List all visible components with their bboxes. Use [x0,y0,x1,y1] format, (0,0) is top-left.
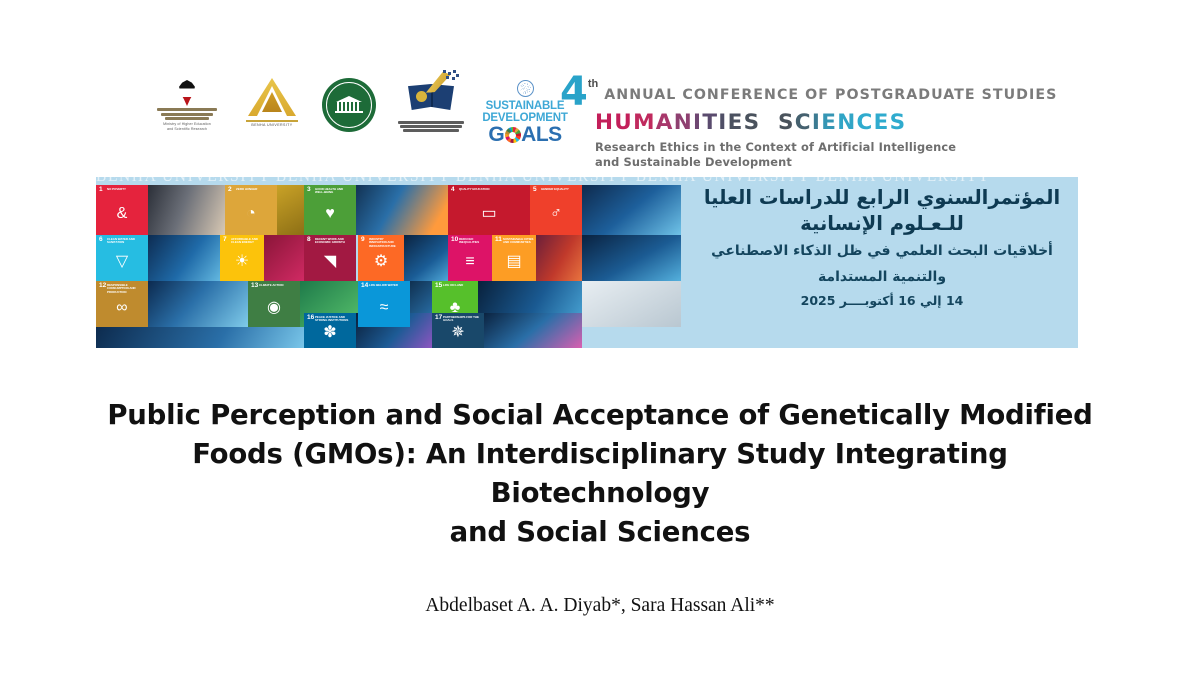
sdg-color-wheel-icon [505,127,521,143]
sdg-tile-glyph-icon: & [117,206,128,222]
sdg-tile-number: 7 [223,237,227,244]
sdg-tile-17: 17PARTNERSHIPS FOR THE GOALS✵ [432,313,484,348]
arabic-title-line1: المؤتمرالسنوي الرابع للدراسات العليا [702,185,1062,211]
humanities-letter: T [702,110,718,135]
humanities-letter: I [718,110,727,135]
benha-university-seal [318,78,380,132]
conference-subtitle: Research Ethics in the Context of Artifi… [595,140,995,170]
sdg-tile-glyph-icon: ▽ [116,254,128,270]
sdg-tile-title: NO POVERTY [107,188,144,192]
sdg-tile-title: SUSTAINABLE CITIES AND COMMUNITIES [503,238,535,245]
conference-subtitle-line2: and Sustainable Development [595,155,995,170]
sdg-tile-glyph-icon: ◥ [324,254,336,270]
sdg-tile-3: 3GOOD HEALTH AND WELL-BEING♥ [304,185,356,235]
sustainable-development-goals-logo: SUSTAINABLE DEVELOPMENT G ALS [482,78,568,146]
humanities-letter [760,110,778,135]
sdg-tile-title: DECENT WORK AND ECONOMIC GROWTH [315,238,352,245]
title-line-3: and Social Sciences [86,513,1114,552]
arabic-dates: 14 إلي 16 أكتوبــــر 2025 [702,293,1062,308]
sdg-tile-title: LIFE BELOW WATER [369,284,406,288]
sdg-tile-5: 5GENDER EQUALITY♂ [530,185,582,235]
faculty-arabic-text [397,121,465,132]
mosaic-photo-tile [404,235,448,281]
humanities-letter: N [674,110,693,135]
sdg-line-1: SUSTAINABLE [482,100,568,112]
mosaic-photo-tile [582,185,681,235]
page-title: Public Perception and Social Acceptance … [86,396,1114,552]
benha-university-logo: BENHA UNIVERSITY [238,78,306,127]
sdg-tile-title: LIFE ON LAND [443,284,476,288]
humanities-letter: E [874,110,890,135]
humanities-letter: S [890,110,907,135]
sdg-tile-glyph-icon: ▤ [506,254,521,270]
mosaic-photo-tile [277,185,304,235]
conference-annual-line: ANNUAL CONFERENCE OF POSTGRADUATE STUDIE… [604,87,1057,103]
sdg-goals-g: G [488,124,504,146]
mosaic-photo-tile [582,281,681,327]
humanities-letter: N [837,110,856,135]
humanities-letter: I [693,110,702,135]
sdg-tile-number: 3 [307,187,311,194]
banner-arabic-block: المؤتمرالسنوي الرابع للدراسات العليا للـ… [702,185,1062,308]
sdg-tile-number: 2 [228,187,232,194]
conference-title-block: 4 th ANNUAL CONFERENCE OF POSTGRADUATE S… [560,76,1030,169]
sdg-tile-title: ZERO HUNGER [236,188,273,192]
sdg-tile-title: QUALITY EDUCATION [459,188,518,192]
arabic-subtitle-line1: أخلاقيات البحث العلمي في ظل الذكاء الاصط… [702,242,1062,262]
sdg-tile-number: 5 [533,187,537,194]
sdg-tile-glyph-icon: ≈ [380,300,389,316]
mosaic-photo-tile [148,281,248,327]
sdg-tile-glyph-icon: ✽ [323,325,336,341]
sdg-tile-glyph-icon: ▭ [481,206,496,222]
authors-line: Abdelbaset A. A. Diyab*, Sara Hassan Ali… [0,595,1200,617]
sdg-tile-glyph-icon: ≡ [465,254,474,270]
sdg-tile-16: 16PEACE JUSTICE AND STRONG INSTITUTIONS✽ [304,313,356,348]
mosaic-photo-tile [148,235,220,281]
faculty-emblem-logo [392,78,470,133]
conference-banner: 1NO POVERTY&2ZERO HUNGER◔3GOOD HEALTH AN… [96,177,1078,348]
logo-row: Ministry of Higher Education and Scienti… [148,78,568,146]
conference-header: Ministry of Higher Education and Scienti… [0,70,1200,170]
sdg-tile-number: 11 [495,237,502,244]
sdg-goals-als: ALS [521,124,562,146]
sdg-tile-glyph-icon: ◉ [267,300,281,316]
humanities-letter: H [595,110,614,135]
benha-logo-label: BENHA UNIVERSITY [238,123,306,127]
mosaic-photo-tile [536,235,582,281]
sdg-tile-glyph-icon: ♂ [550,206,562,222]
sdg-tile-7: 7AFFORDABLE AND CLEAN ENERGY☀ [220,235,264,281]
sdg-tile-10: 10REDUCED INEQUALITIES≡ [448,235,492,281]
arabic-subtitle-line2: والتنمية المستدامة [702,268,1062,288]
title-line-2: Foods (GMOs): An Interdisciplinary Study… [86,435,1114,513]
digital-pixels-icon [443,70,459,84]
sdg-goals-word: G ALS [482,124,568,146]
sdg-tile-number: 4 [451,187,455,194]
mosaic-photo-tile [484,313,582,348]
sdg-tile-title: PEACE JUSTICE AND STRONG INSTITUTIONS [315,316,352,323]
ministry-arabic-text [155,108,219,120]
university-seal-icon [322,78,376,132]
sdg-tile-4: 4QUALITY EDUCATION▭ [448,185,530,235]
sdg-tile-glyph-icon: ◔ [246,206,256,222]
sdg-tile-9: 9INDUSTRY INNOVATION AND INFRASTRUCTURE⚙ [358,235,404,281]
sdg-tile-number: 9 [361,237,365,244]
united-nations-icon [517,80,534,97]
humanities-letter: M [633,110,656,135]
sdg-tile-number: 15 [435,283,442,290]
sdg-tile-12: 12RESPONSIBLE CONSUMPTION AND PRODUCTION… [96,281,148,327]
conference-ordinal-suffix: th [588,78,598,90]
sdg-tile-title: REDUCED INEQUALITIES [459,238,491,245]
ministry-of-higher-education-logo: Ministry of Higher Education and Scienti… [148,78,226,132]
sdg-tile-number: 1 [99,187,103,194]
sdg-tile-8: 8DECENT WORK AND ECONOMIC GROWTH◥ [304,235,356,281]
sdg-photo-mosaic: 1NO POVERTY&2ZERO HUNGER◔3GOOD HEALTH AN… [96,177,681,348]
humanities-letter: E [821,110,837,135]
sdg-tile-13: 13CLIMATE ACTION◉ [248,281,300,327]
sdg-tile-title: CLIMATE ACTION [259,284,296,288]
humanities-letter: S [778,110,795,135]
sdg-tile-number: 14 [361,283,368,290]
mosaic-photo-tile [356,185,448,235]
humanities-letter: C [795,110,812,135]
sdg-tile-title: INDUSTRY INNOVATION AND INFRASTRUCTURE [369,238,402,249]
sdg-tile-number: 8 [307,237,311,244]
humanities-letter: A [656,110,674,135]
sdg-tile-glyph-icon: ⚙ [374,254,388,270]
sdg-tile-glyph-icon: ♥ [325,206,335,222]
sdg-tile-11: 11SUSTAINABLE CITIES AND COMMUNITIES▤ [492,235,536,281]
mosaic-photo-tile [148,185,225,235]
humanities-letter: C [856,110,873,135]
conference-subtitle-line1: Research Ethics in the Context of Artifi… [595,140,995,155]
sdg-tile-glyph-icon: ☀ [235,254,249,270]
humanities-letter: S [744,110,761,135]
conference-ordinal-number: 4 [560,76,587,109]
humanities-letter: E [728,110,744,135]
humanities-letter: I [812,110,821,135]
sdg-tile-title: GENDER EQUALITY [541,188,578,192]
benha-triangle-icon [248,78,296,118]
humanities-letter: U [614,110,633,135]
sdg-tile-number: 12 [99,283,106,290]
mosaic-photo-tile [582,235,681,281]
arabic-title-line2: للـعـلوم الإنسانية [702,211,1062,237]
sdg-tile-title: RESPONSIBLE CONSUMPTION AND PRODUCTION [107,284,144,295]
sdg-tile-number: 10 [451,237,458,244]
sdg-tile-1: 1NO POVERTY& [96,185,148,235]
sdg-tile-number: 16 [307,315,314,322]
presentation-slide: Ministry of Higher Education and Scienti… [0,0,1200,677]
sdg-tile-number: 6 [99,237,103,244]
sdg-tile-glyph-icon: ✵ [451,325,464,341]
sdg-tile-number: 17 [435,315,442,322]
sdg-tile-number: 13 [251,283,258,290]
ministry-label-line2: and Scientific Research [148,127,226,132]
sdg-tile-title: AFFORDABLE AND CLEAN ENERGY [231,238,263,245]
sdg-tile-glyph-icon: ∞ [116,300,127,316]
title-line-1: Public Perception and Social Acceptance … [86,396,1114,435]
mosaic-photo-tile [264,235,304,281]
sdg-tile-6: 6CLEAN WATER AND SANITATION▽ [96,235,148,281]
sdg-tile-title: GOOD HEALTH AND WELL-BEING [315,188,352,195]
sdg-tile-2: 2ZERO HUNGER◔ [225,185,277,235]
sdg-tile-title: PARTNERSHIPS FOR THE GOALS [443,316,480,323]
sdg-tile-title: CLEAN WATER AND SANITATION [107,238,144,245]
mosaic-photo-tile [96,327,304,348]
sdg-tile-14: 14LIFE BELOW WATER≈ [358,281,410,327]
egypt-eagle-icon [176,80,198,106]
conference-humanities-sciences: HUMANITIES SCIENCES [595,110,1030,135]
